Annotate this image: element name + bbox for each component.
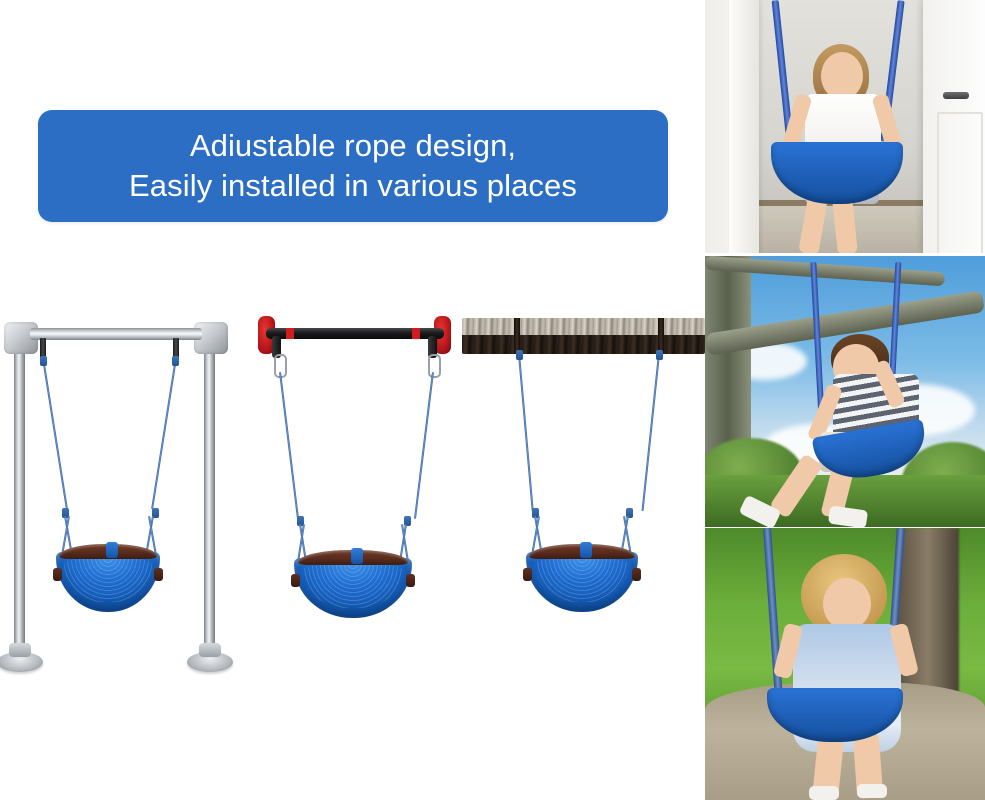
pullup-bar-ring-left <box>286 328 294 339</box>
illustration-swing-set-frame <box>0 300 245 700</box>
child-shoe-left <box>809 786 839 800</box>
swing-seat-rail-cap-right <box>406 574 415 587</box>
swing-rope-knot-left <box>516 350 523 360</box>
swing-seat-rail-cap-left <box>523 568 532 581</box>
branch-strap-left <box>514 318 520 354</box>
swing-seat <box>56 542 160 622</box>
swing-seat-rail-cap-left <box>291 574 300 587</box>
door-frame-left <box>729 0 759 253</box>
carabiner-right <box>428 354 441 378</box>
product-marketing-image: Adiustable rope design, Easily installed… <box>0 0 985 800</box>
frame-base-right <box>187 652 233 672</box>
swing-rope-knot-left <box>40 356 47 366</box>
photo-indoor-doorway <box>705 0 985 253</box>
frame-post-left <box>14 336 25 660</box>
illustration-doorway-pullup-bar <box>252 300 457 700</box>
swing-seat <box>294 548 412 630</box>
swing-rope-right-upper <box>641 354 660 511</box>
pullup-bar-ring-right <box>412 328 420 339</box>
swing-seat-center-hub <box>580 542 592 558</box>
photo-tree-outdoor <box>705 256 985 527</box>
headline-text: Adiustable rope design, Easily installed… <box>129 126 577 207</box>
illustration-tree-branch <box>462 300 705 700</box>
swing-seat-rail-cap-right <box>632 568 641 581</box>
swing-rope-left-upper <box>518 354 534 512</box>
photo-tree-outdoor-scene <box>705 256 985 527</box>
background-tree-trunk <box>897 528 959 706</box>
photo-park-lawn-scene <box>705 528 985 800</box>
child-shoe-right <box>857 784 887 798</box>
branch-bark-highlight <box>462 318 705 335</box>
headline-banner: Adiustable rope design, Easily installed… <box>38 110 668 222</box>
photo-park-lawn <box>705 528 985 800</box>
swing-seat-center-hub <box>106 542 118 558</box>
door-moulding <box>937 112 983 253</box>
photo-indoor-doorway-scene <box>705 0 985 253</box>
left-content-column: Adiustable rope design, Easily installed… <box>0 0 705 800</box>
swing-seat-rail-cap-right <box>154 568 163 581</box>
swing-rope-right-upper <box>414 372 434 519</box>
door-handle <box>943 92 969 99</box>
swing-seat-rail-cap-left <box>53 568 62 581</box>
swing-rope-left-upper <box>42 358 68 509</box>
branch-bark-shadow <box>462 335 705 354</box>
tree-branch <box>462 318 705 354</box>
mounting-illustrations-row <box>0 300 705 700</box>
swing-seat <box>526 542 638 624</box>
child-head <box>823 578 871 630</box>
swing-rope-knot-right <box>172 356 179 366</box>
swing-rope-knot-right <box>656 350 663 360</box>
frame-base-left <box>0 652 43 672</box>
frame-post-right <box>204 336 215 660</box>
child-head <box>821 52 863 100</box>
lifestyle-photo-column <box>705 0 985 800</box>
swing-rope-right-upper <box>151 358 177 509</box>
swing-rope-left-upper <box>279 372 299 519</box>
swing-seat-center-hub <box>351 548 363 564</box>
branch-strap-right <box>658 318 664 354</box>
